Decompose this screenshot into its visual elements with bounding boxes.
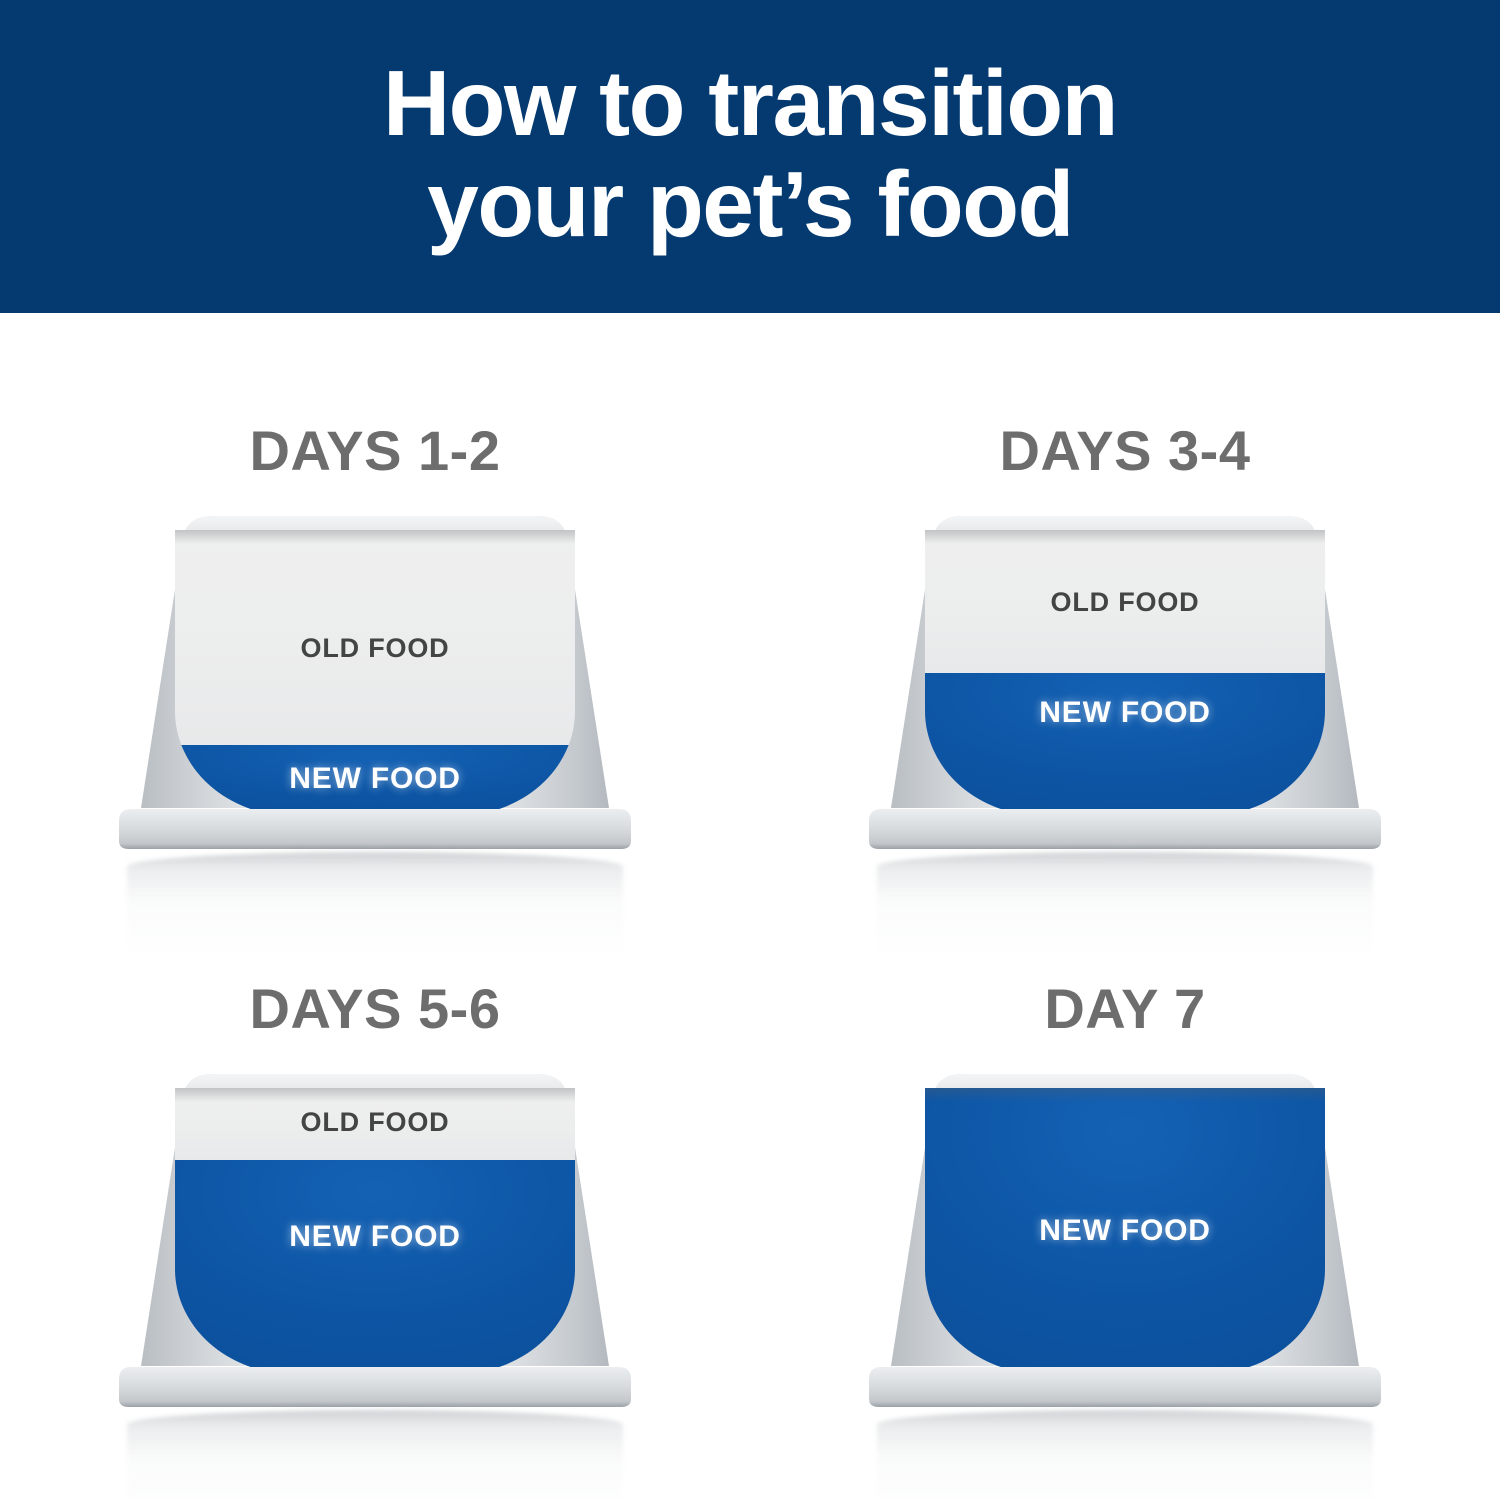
step-card-days-5-6: DAYS 5-6 — [0, 871, 750, 1464]
day-label: DAY 7 — [750, 976, 1500, 1041]
food-bowl: OLD FOOD NEW FOOD — [859, 508, 1391, 853]
old-food-region: OLD FOOD — [175, 530, 575, 745]
old-food-region: OLD FOOD — [175, 1088, 575, 1160]
new-food-label: NEW FOOD — [175, 762, 575, 796]
food-window: OLD FOOD NEW FOOD — [175, 1088, 575, 1374]
bowl-foot — [109, 1363, 641, 1413]
food-bowl: OLD FOOD NEW FOOD — [109, 1066, 641, 1411]
new-food-label: NEW FOOD — [175, 1220, 575, 1254]
day-label: DAYS 1-2 — [0, 418, 750, 483]
step-card-days-1-2: DAYS 1-2 — [0, 313, 750, 906]
old-food-label: OLD FOOD — [175, 1107, 575, 1138]
step-card-days-3-4: DAYS 3-4 — [750, 313, 1500, 906]
day-label: DAYS 3-4 — [750, 418, 1500, 483]
bowl-reflection — [877, 1410, 1373, 1500]
bowl-reflection — [127, 1410, 623, 1500]
old-food-label: OLD FOOD — [925, 587, 1325, 618]
food-window: OLD FOOD NEW FOOD — [925, 530, 1325, 816]
bowl-foot — [859, 805, 1391, 855]
bowl-foot — [109, 805, 641, 855]
food-window: OLD FOOD NEW FOOD — [175, 530, 575, 816]
food-window: NEW FOOD — [925, 1088, 1325, 1374]
food-bowl: NEW FOOD — [859, 1066, 1391, 1411]
new-food-label: NEW FOOD — [925, 1214, 1325, 1248]
old-food-label: OLD FOOD — [175, 633, 575, 664]
page-title: How to transition your pet’s food — [383, 53, 1117, 260]
new-food-region: NEW FOOD — [925, 1088, 1325, 1374]
steps-grid: DAYS 1-2 — [0, 313, 1500, 1500]
infographic-page: How to transition your pet’s food DAYS 1… — [0, 0, 1500, 1500]
day-label: DAYS 5-6 — [0, 976, 750, 1041]
bowl-foot — [859, 1363, 1391, 1413]
header-banner: How to transition your pet’s food — [0, 0, 1500, 313]
food-bowl: OLD FOOD NEW FOOD — [109, 508, 641, 853]
new-food-label: NEW FOOD — [925, 696, 1325, 730]
new-food-region: NEW FOOD — [925, 673, 1325, 816]
old-food-region: OLD FOOD — [925, 530, 1325, 673]
new-food-region: NEW FOOD — [175, 1160, 575, 1375]
step-card-day-7: DAY 7 — [750, 871, 1500, 1464]
